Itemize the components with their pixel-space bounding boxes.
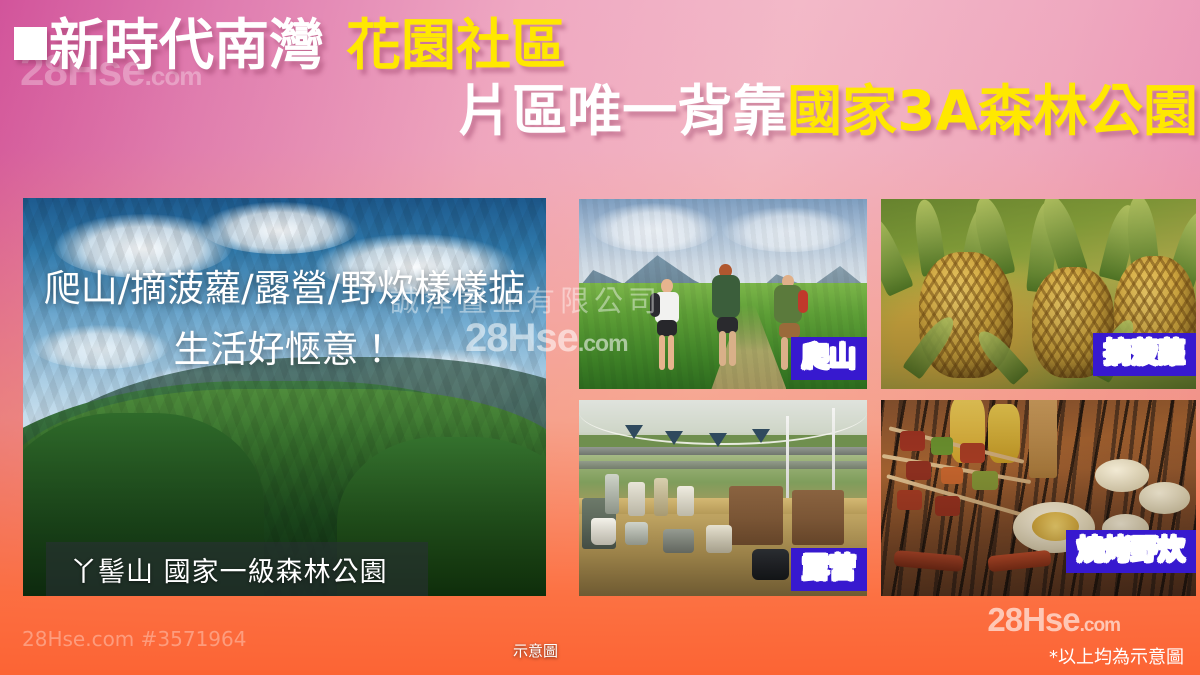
headline-line-1: 新時代南灣花園社區: [14, 16, 566, 74]
headline-line-1-yellow: 花園社區: [346, 13, 566, 77]
square-bullet-icon: [14, 27, 47, 60]
tag-bbq: 燒烤野炊: [1066, 530, 1196, 573]
headline-line-1-white: 新時代南灣: [49, 13, 324, 77]
tag-pineapple: 摘菠蘿: [1093, 333, 1196, 376]
advertisement-poster: 28Hse.com 新時代南灣花園社區 片區唯一背靠國家3A森林公園 丫: [0, 0, 1200, 675]
headline-line-2-yellow: 國家3A森林公園: [787, 79, 1198, 143]
main-photo-caption-bar: 丫髻山 國家一級森林公園: [46, 542, 428, 596]
main-photo-caption: 丫髻山 國家一級森林公園: [46, 550, 388, 589]
listing-id-watermark: 28Hse.com #3571964: [22, 627, 246, 651]
poster-header: 28Hse.com 新時代南灣花園社區 片區唯一背靠國家3A森林公園: [0, 0, 1200, 180]
headline-line-2: 片區唯一背靠國家3A森林公園: [457, 82, 1198, 140]
disclaimer-note: *以上均為示意圖: [1049, 643, 1184, 669]
site-watermark-footer: 28Hse.com: [987, 601, 1120, 639]
illustration-note: 示意圖: [513, 640, 558, 661]
headline-line-2-white: 片區唯一背靠: [457, 79, 787, 143]
tag-camping: 露营: [791, 548, 867, 591]
mountain-scene-art: [23, 198, 546, 596]
tag-hiking: 爬山: [791, 337, 867, 380]
main-photo[interactable]: 丫髻山 國家一級森林公園: [23, 198, 546, 596]
